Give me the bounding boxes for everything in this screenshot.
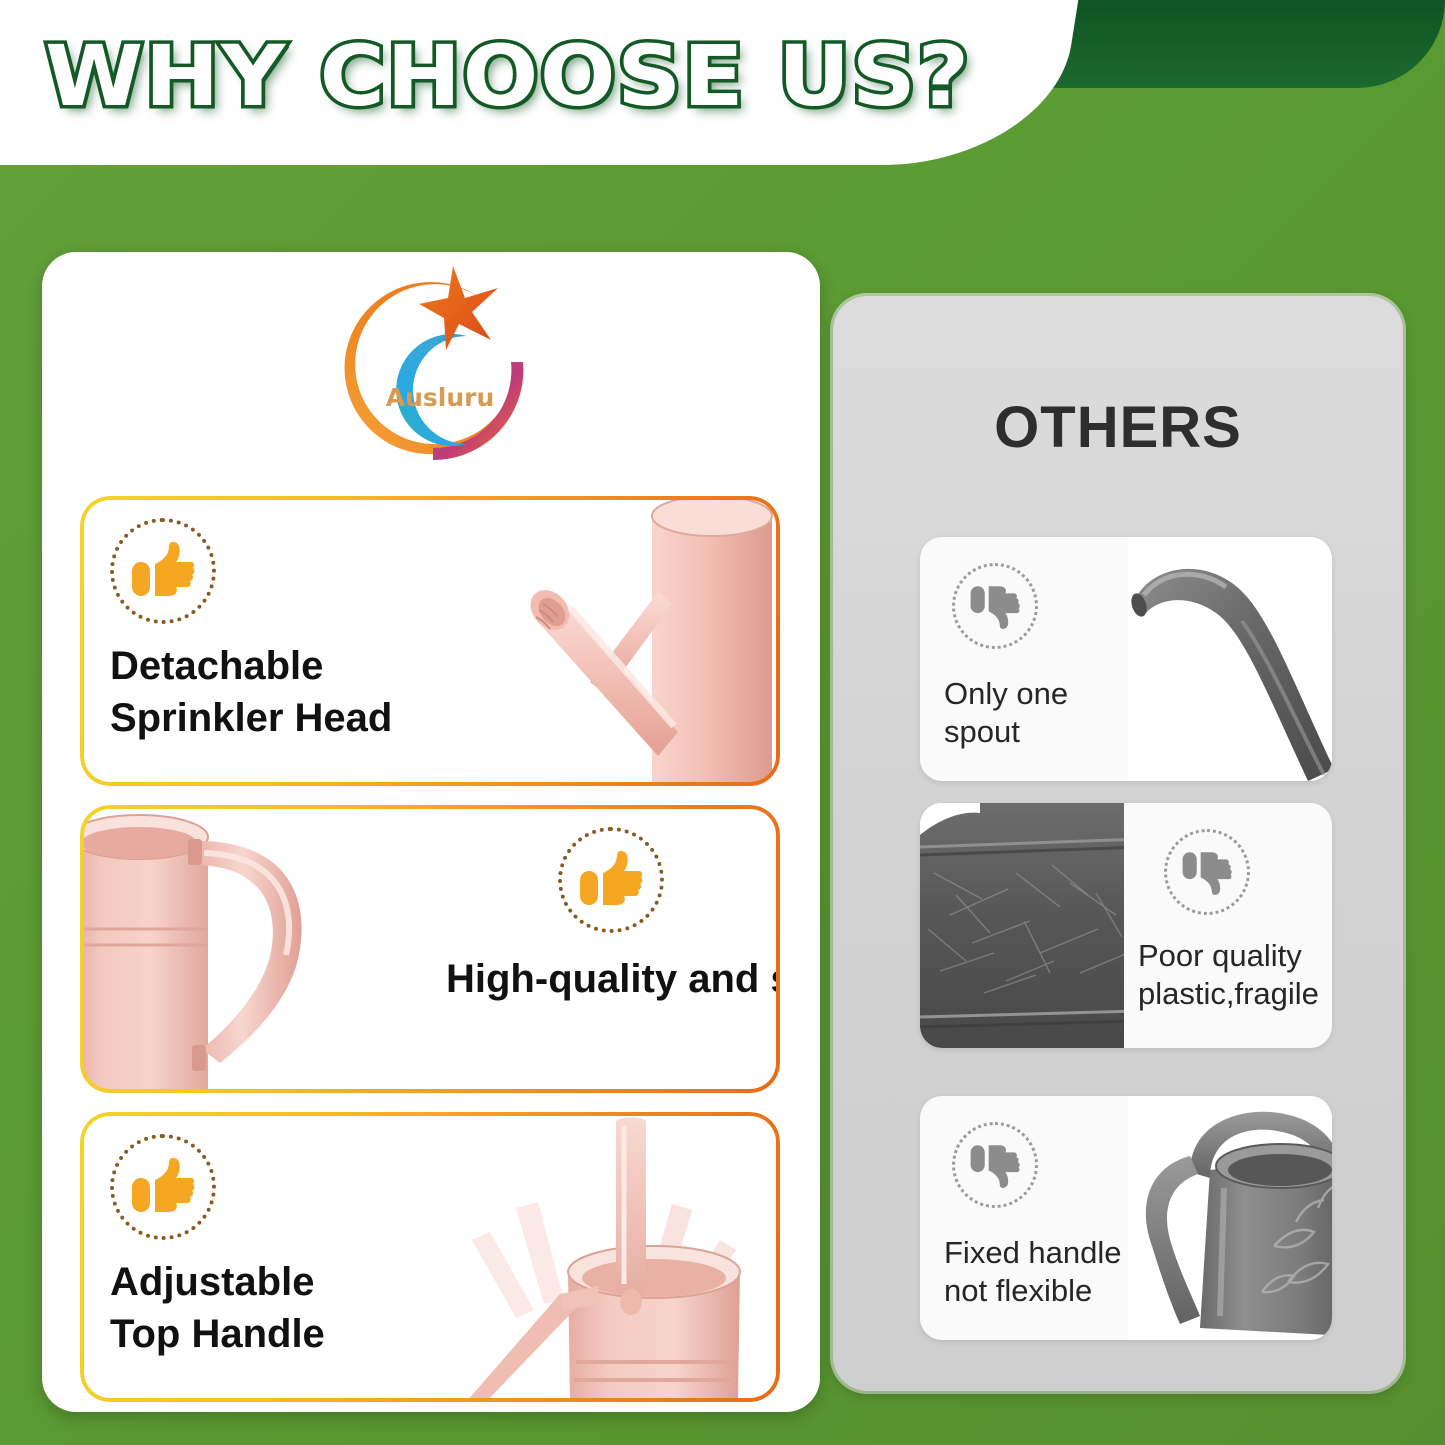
- drawback-text-column: Poor quality plastic,fragile: [1124, 803, 1332, 1048]
- gray-scratched-plastic-illustration: [920, 803, 1124, 1048]
- page-title: WHY CHOOSE US?: [45, 34, 971, 118]
- thumbs-up-badge: [110, 518, 216, 624]
- feature-label: Detachable Sprinkler Head: [110, 640, 406, 744]
- thumbs-down-badge: [952, 1122, 1038, 1208]
- feature-label: Adjustable Top Handle: [110, 1256, 406, 1360]
- drawback-label: Fixed handle not flexible: [944, 1234, 1122, 1311]
- thumbs-up-icon: [130, 540, 196, 602]
- drawback-text-column: Fixed handle not flexible: [920, 1096, 1128, 1340]
- thumbs-up-badge: [110, 1134, 216, 1240]
- feature-card-adjustable-top-handle[interactable]: Adjustable Top Handle: [80, 1112, 780, 1402]
- brand-logo: Ausluru: [315, 258, 555, 480]
- brand-wordmark: Ausluru: [386, 383, 495, 412]
- feature-image-galvanized-steel-handle: [80, 805, 440, 1093]
- drawback-card-fixed-handle[interactable]: Fixed handle not flexible: [920, 1096, 1332, 1340]
- thumbs-down-icon: [1181, 847, 1233, 897]
- drawback-card-poor-quality-plastic[interactable]: Poor quality plastic,fragile: [920, 803, 1332, 1048]
- thumbs-down-icon: [969, 1140, 1021, 1190]
- gray-fixed-handle-can-illustration: [1128, 1096, 1332, 1340]
- feature-card-detachable-sprinkler-head[interactable]: Detachable Sprinkler Head: [80, 496, 780, 786]
- thumbs-down-icon: [969, 581, 1021, 631]
- infographic-root: WHY CHOOSE US?: [0, 0, 1445, 1445]
- drawback-label: Only one spout: [944, 675, 1122, 752]
- drawback-image-single-spout: [1128, 537, 1332, 781]
- pink-steel-can-handle-illustration: [80, 805, 440, 1093]
- feature-label: High-quality and sturdy galvanized steel: [446, 953, 762, 1005]
- pink-sprinkler-spout-illustration: [420, 496, 780, 786]
- drawback-image-scratched-plastic: [920, 803, 1124, 1048]
- feature-card-high-quality-galvanized-steel[interactable]: High-quality and sturdy galvanized steel: [80, 805, 780, 1093]
- thumbs-down-badge: [952, 563, 1038, 649]
- thumbs-down-badge: [1164, 829, 1250, 915]
- pink-adjustable-handle-illustration: [420, 1112, 780, 1402]
- drawback-card-only-one-spout[interactable]: Only one spout: [920, 537, 1332, 781]
- feature-text-column: High-quality and sturdy galvanized steel: [440, 805, 780, 1093]
- thumbs-up-icon: [578, 849, 644, 911]
- others-title: OTHERS: [833, 394, 1403, 461]
- feature-image-detachable-sprinkler-spout: [420, 496, 780, 786]
- thumbs-up-icon: [130, 1156, 196, 1218]
- feature-text-column: Adjustable Top Handle: [80, 1112, 420, 1402]
- ausluru-swoosh-star-logo-icon: Ausluru: [315, 258, 555, 480]
- feature-image-adjustable-top-handle: [420, 1112, 780, 1402]
- drawback-label: Poor quality plastic,fragile: [1138, 937, 1322, 1014]
- thumbs-up-badge: [558, 827, 664, 933]
- drawback-image-fixed-handle-can: [1128, 1096, 1332, 1340]
- drawback-text-column: Only one spout: [920, 537, 1128, 781]
- gray-curved-spout-illustration: [1128, 537, 1332, 781]
- feature-text-column: Detachable Sprinkler Head: [80, 496, 420, 786]
